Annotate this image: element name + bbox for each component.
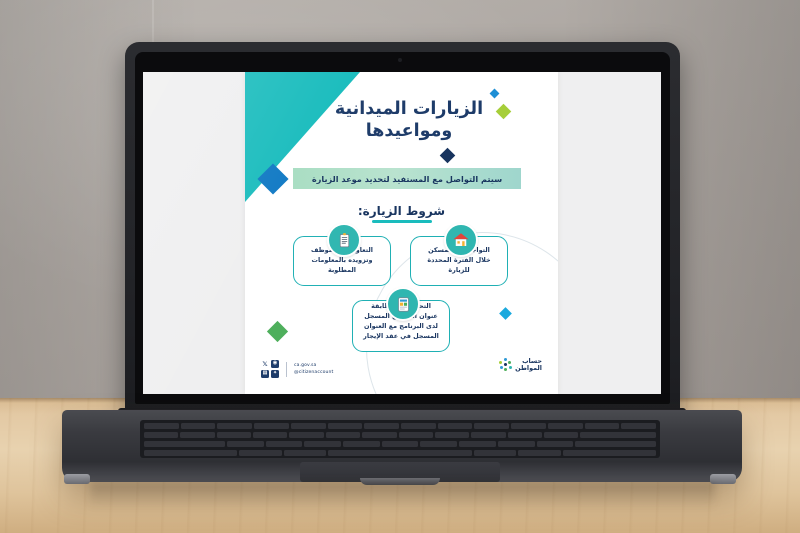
key[interactable]	[420, 441, 457, 447]
key[interactable]	[328, 423, 363, 429]
footer-divider	[286, 362, 287, 377]
citizen-account-logo-icon	[498, 358, 512, 372]
key[interactable]	[289, 432, 323, 438]
tablet-document-icon	[386, 287, 420, 321]
key[interactable]	[399, 432, 433, 438]
brand-logo: حساب المواطن	[498, 358, 542, 372]
key[interactable]	[144, 432, 178, 438]
diamond-navy-icon	[440, 148, 456, 164]
key[interactable]	[438, 423, 473, 429]
slide-title-line-1: الزيارات الميدانية	[335, 99, 483, 119]
section-heading: شروط الزيارة:	[245, 200, 558, 219]
webcam-icon	[398, 58, 402, 62]
footer-website[interactable]: ca.gov.sa	[294, 363, 333, 369]
key[interactable]	[382, 441, 419, 447]
key-space[interactable]	[328, 450, 472, 456]
subtitle-banner-text: سيتم التواصل مع المستفيد لتحديد موعد الز…	[312, 174, 502, 184]
footer-social[interactable]: 𝕏 ◉ ▦ ✦ ca.gov.sa @citizenaccount	[261, 360, 333, 378]
key[interactable]	[544, 432, 578, 438]
house-icon	[444, 223, 478, 257]
key[interactable]	[471, 432, 505, 438]
diamond-blue-small-icon	[490, 89, 500, 99]
key[interactable]	[511, 423, 546, 429]
laptop-screen[interactable]: الزيارات الميدانية ومواعيدها سيتم التواص…	[143, 72, 661, 394]
key-shift-right[interactable]	[563, 450, 656, 456]
section-heading-underline	[372, 220, 432, 223]
slide-title: الزيارات الميدانية ومواعيدها	[285, 98, 533, 143]
key[interactable]	[548, 423, 583, 429]
key[interactable]	[217, 432, 251, 438]
key[interactable]	[364, 423, 399, 429]
desk-scene: الزيارات الميدانية ومواعيدها سيتم التواص…	[0, 0, 800, 533]
key[interactable]	[401, 423, 436, 429]
laptop-shadow	[90, 482, 715, 508]
key[interactable]	[227, 441, 264, 447]
brand-name: حساب المواطن	[515, 358, 542, 371]
key[interactable]	[474, 423, 509, 429]
slide-document[interactable]: الزيارات الميدانية ومواعيدها سيتم التواص…	[245, 72, 558, 394]
key[interactable]	[266, 441, 303, 447]
key-backspace[interactable]	[580, 432, 656, 438]
diamond-green-icon	[267, 321, 288, 342]
key-shift[interactable]	[144, 450, 237, 456]
x-icon[interactable]: 𝕏	[261, 360, 269, 368]
key[interactable]	[144, 423, 179, 429]
keyboard[interactable]	[140, 420, 660, 458]
key[interactable]	[537, 441, 574, 447]
key[interactable]	[254, 423, 289, 429]
laptop-foot-left	[64, 474, 90, 484]
key[interactable]	[343, 441, 380, 447]
key[interactable]	[474, 450, 516, 456]
key[interactable]	[304, 441, 341, 447]
brand-name-line-2: المواطن	[515, 365, 542, 372]
footer-handles: ca.gov.sa @citizenaccount	[294, 363, 333, 375]
section-heading-text: شروط الزيارة:	[358, 204, 445, 218]
instagram-icon[interactable]: ◉	[271, 360, 279, 368]
key[interactable]	[180, 432, 214, 438]
key[interactable]	[326, 432, 360, 438]
key[interactable]	[181, 423, 216, 429]
key[interactable]	[585, 423, 620, 429]
key[interactable]	[498, 441, 535, 447]
key-tab[interactable]	[144, 441, 225, 447]
qr-icon[interactable]: ▦	[261, 370, 269, 378]
slide-title-line-2: ومواعيدها	[285, 120, 533, 142]
key[interactable]	[459, 441, 496, 447]
key[interactable]	[239, 450, 281, 456]
globe-icon[interactable]: ✦	[271, 370, 279, 378]
subtitle-banner: سيتم التواصل مع المستفيد لتحديد موعد الز…	[293, 168, 521, 189]
key[interactable]	[217, 423, 252, 429]
footer-handle[interactable]: @citizenaccount	[294, 370, 333, 376]
social-icon-grid[interactable]: 𝕏 ◉ ▦ ✦	[261, 360, 279, 378]
key[interactable]	[508, 432, 542, 438]
key[interactable]	[518, 450, 560, 456]
key-enter[interactable]	[575, 441, 656, 447]
key[interactable]	[291, 423, 326, 429]
key[interactable]	[362, 432, 396, 438]
laptop: الزيارات الميدانية ومواعيدها سيتم التواص…	[0, 0, 800, 533]
key[interactable]	[253, 432, 287, 438]
key[interactable]	[284, 450, 326, 456]
key[interactable]	[621, 423, 656, 429]
key[interactable]	[435, 432, 469, 438]
clipboard-icon	[327, 223, 361, 257]
